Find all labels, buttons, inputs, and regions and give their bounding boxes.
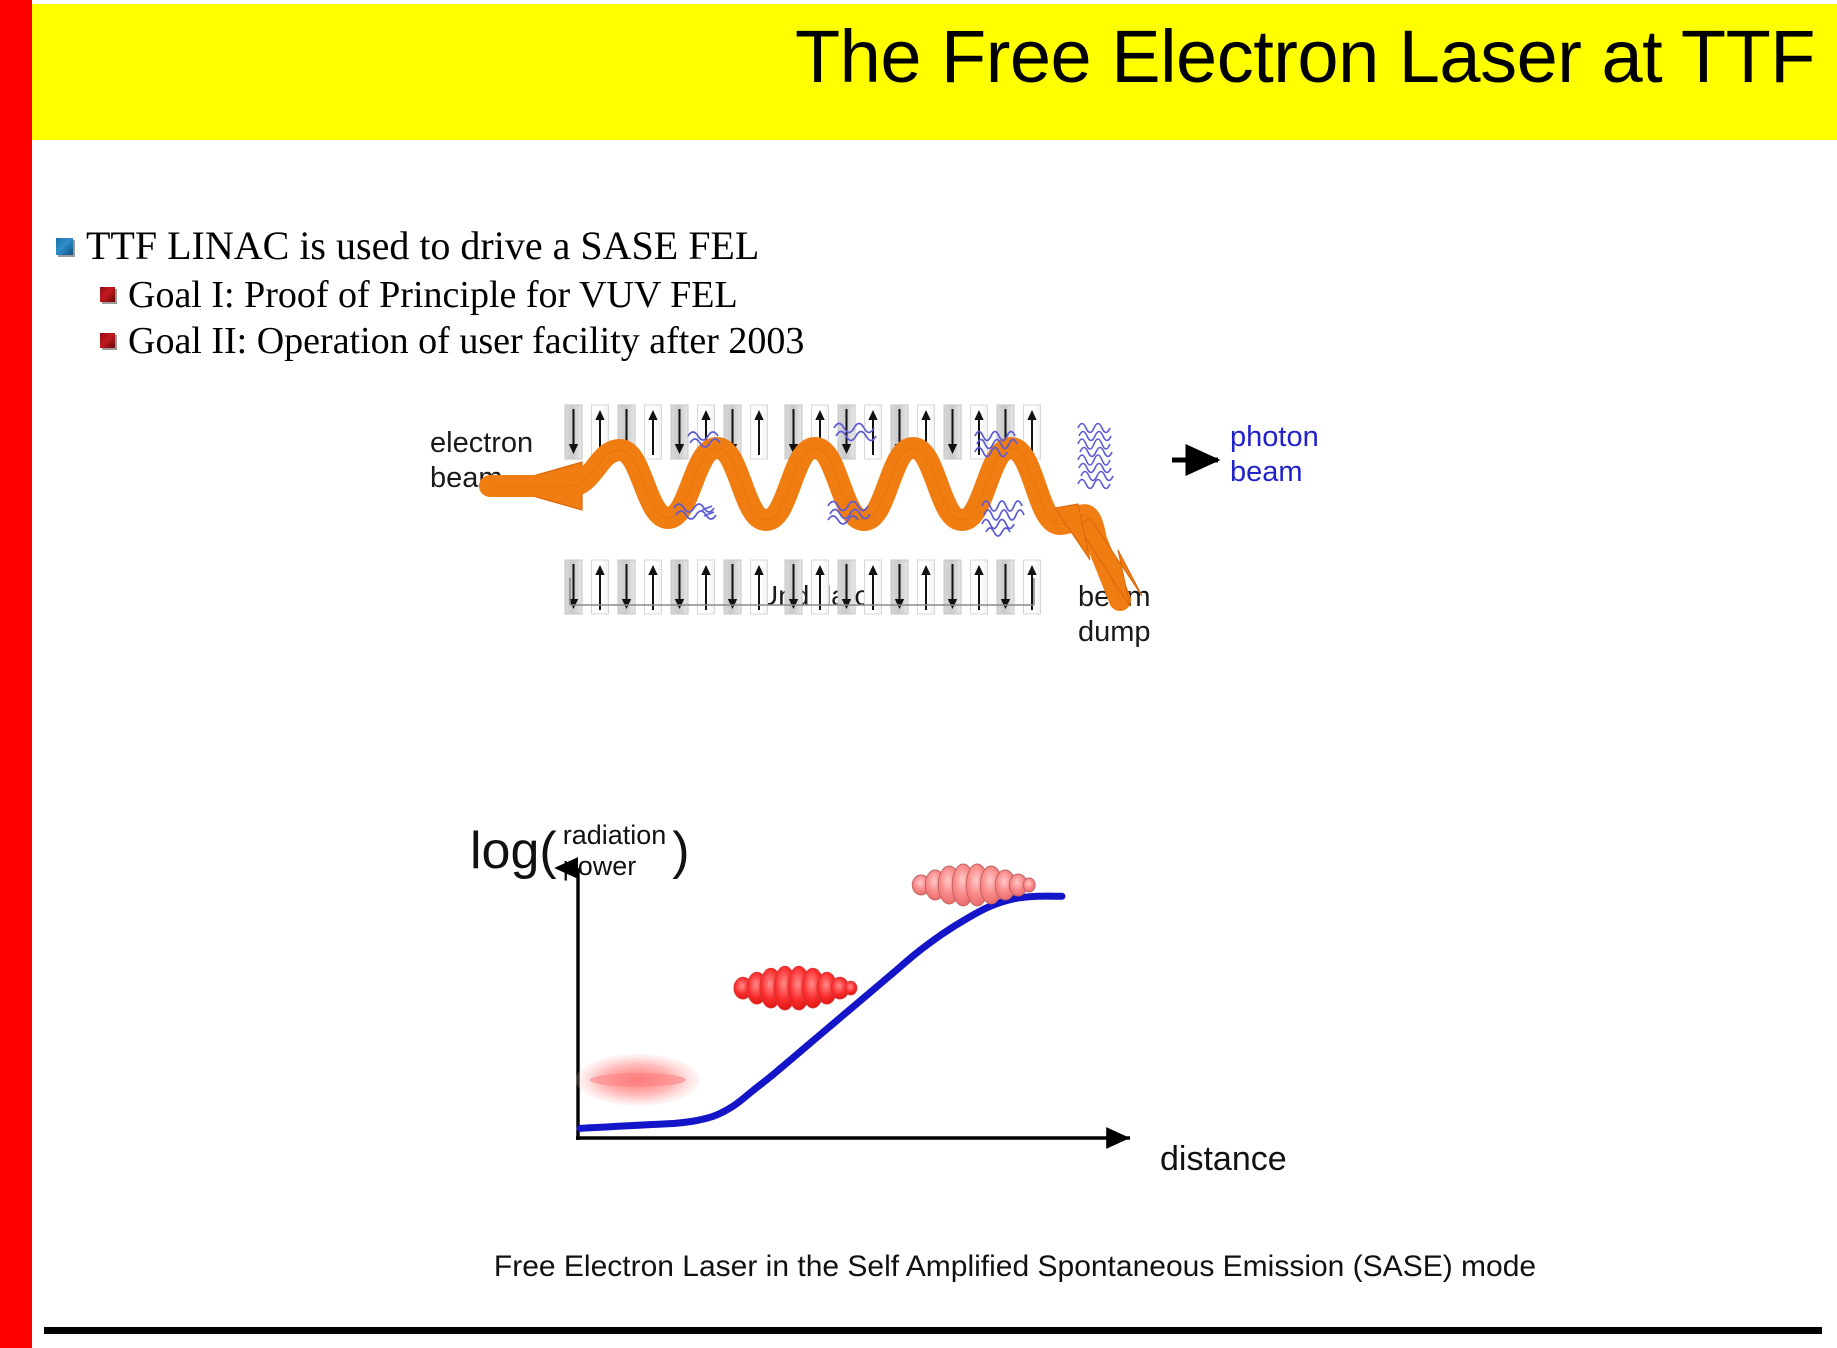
bullet-label: TTF LINAC is used to drive a SASE FEL: [86, 222, 759, 270]
magnet-down: [671, 560, 688, 614]
red-square-bullet-icon: [100, 287, 115, 302]
magnet-up: [698, 560, 715, 614]
magnet-down: [838, 560, 855, 614]
figure-caption: Free Electron Laser in the Self Amplifie…: [470, 1250, 1560, 1284]
left-accent-bar: [0, 0, 32, 1348]
magnet-up: [645, 405, 662, 459]
magnet-up: [1024, 560, 1041, 614]
magnet-up: [812, 560, 829, 614]
gain-curve-svg: [470, 820, 1560, 1180]
bullet-label: Goal II: Operation of user facility afte…: [128, 318, 804, 364]
gain-curve-figure: log( radiation power ) distance: [470, 820, 1560, 1260]
magnet-down: [944, 560, 961, 614]
magnet-down: [565, 405, 582, 459]
magnet-up: [592, 560, 609, 614]
magnet-down: [565, 560, 582, 614]
blue-square-bullet-icon: [56, 238, 73, 255]
magnet-up: [865, 560, 882, 614]
list-item: TTF LINAC is used to drive a SASE FEL: [56, 222, 1156, 270]
magnet-up: [751, 405, 768, 459]
bottom-rule-divider: [44, 1327, 1822, 1334]
magnet-up: [645, 560, 662, 614]
magnet-up: [918, 560, 935, 614]
magnet-up: [751, 560, 768, 614]
magnet-down: [785, 560, 802, 614]
bullet-list: TTF LINAC is used to drive a SASE FEL Go…: [56, 222, 1156, 364]
page-title: The Free Electron Laser at TTF: [795, 14, 1815, 99]
magnet-down: [997, 560, 1014, 614]
magnet-row-bottom: [565, 560, 1041, 614]
undulator-svg: [430, 400, 1590, 690]
magnet-down: [891, 560, 908, 614]
red-square-bullet-icon: [100, 333, 115, 348]
electron-bunch-unbunched: [576, 1054, 700, 1106]
bullet-label: Goal I: Proof of Principle for VUV FEL: [128, 272, 738, 318]
slide-canvas: The Free Electron Laser at TTF TTF LINAC…: [0, 0, 1837, 1348]
undulator-schematic: electron beam photon beam beam dump Undu…: [430, 400, 1590, 690]
magnet-up: [971, 560, 988, 614]
magnet-down: [671, 405, 688, 459]
electron-bunch-partial: [734, 966, 857, 1010]
list-item: Goal II: Operation of user facility afte…: [100, 318, 1156, 364]
magnet-down: [724, 560, 741, 614]
list-item: Goal I: Proof of Principle for VUV FEL: [100, 272, 1156, 318]
magnet-down: [618, 560, 635, 614]
magnet-down: [944, 405, 961, 459]
